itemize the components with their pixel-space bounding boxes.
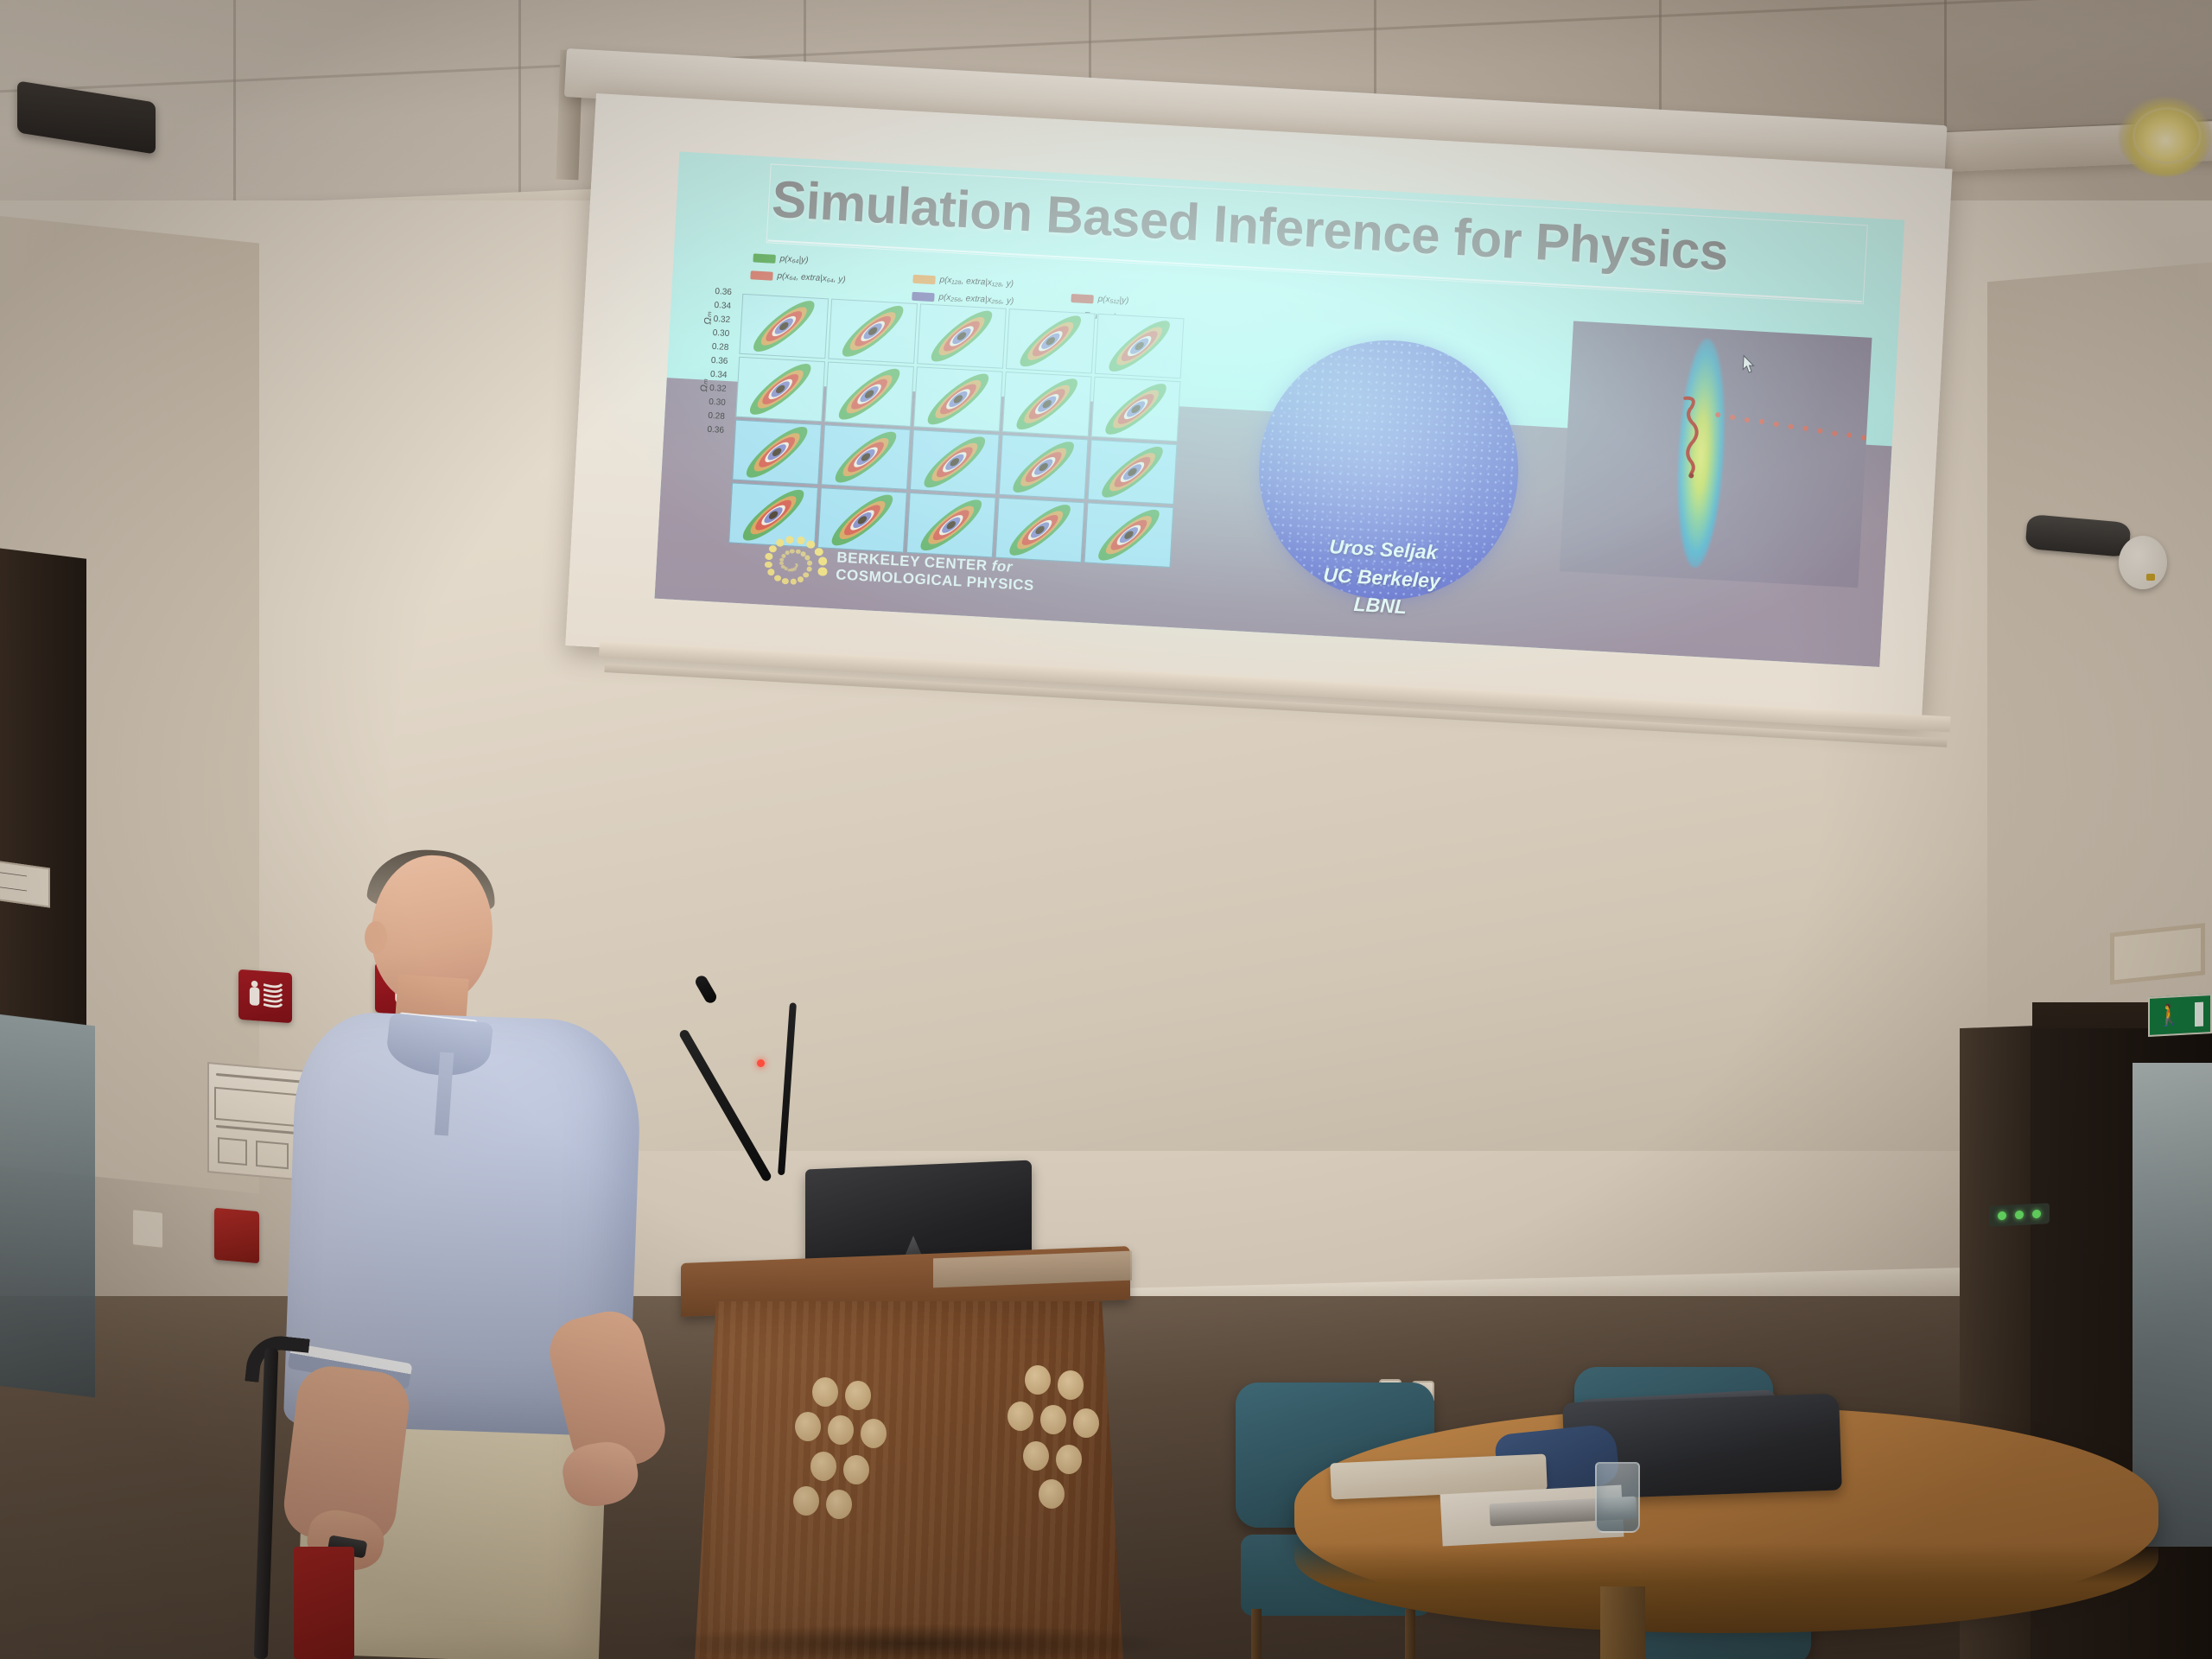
corner-plot-panel	[1084, 502, 1174, 567]
podium-inlay-dot	[795, 1412, 821, 1441]
mouse-cursor-icon	[1742, 355, 1757, 375]
ytick-r2-0: 0.36	[711, 356, 728, 366]
legend-label-1: p(x₆₄, extra|x₆₄, y)	[777, 271, 846, 284]
bccp-spiral-dot	[769, 545, 777, 552]
chair-leg	[1405, 1609, 1415, 1659]
bccp-spiral-dot	[782, 578, 789, 584]
bccp-spiral-dot	[798, 576, 804, 582]
ytick-r1-4: 0.28	[712, 342, 729, 353]
bccp-spiral-dot	[791, 569, 794, 572]
corner-plot-ylabel-row1: Ωₘ	[702, 311, 714, 325]
ytick-r2-2: 0.32	[709, 384, 727, 394]
podium-inlay-dot	[1023, 1441, 1049, 1471]
podium-inlay-dot	[845, 1381, 871, 1410]
podium-floor-shadow	[657, 1624, 1175, 1659]
bccp-line-1b: for	[991, 557, 1013, 575]
legend-swatch-0	[753, 253, 776, 263]
lecture-hall-scene: ——— ——— 🚶 Simulation Based Inference for…	[0, 0, 2212, 1659]
podium-inlay-left	[778, 1377, 881, 1567]
podium-inlay-dot	[843, 1455, 869, 1484]
fire-hose-icon	[245, 976, 285, 1015]
podium-inlay-dot	[1073, 1408, 1099, 1438]
ytick-r3-0: 0.36	[707, 425, 724, 435]
status-led-3	[2032, 1210, 2041, 1219]
presenter-person	[285, 847, 752, 1659]
podium-inlay-dot	[812, 1377, 838, 1407]
ytick-r1-0: 0.36	[715, 287, 732, 297]
corner-plot-panel-grid	[728, 294, 1187, 568]
podium-inlay-dot	[1025, 1365, 1051, 1395]
bccp-spiral-dot	[790, 549, 795, 553]
left-wall-placard: ——— ———	[0, 860, 50, 907]
podium-inlay-dot	[793, 1486, 819, 1516]
left-door-frame[interactable]	[0, 547, 86, 1026]
chair-leg	[1251, 1609, 1262, 1659]
bccp-spiral-dot	[806, 567, 812, 573]
light-switch[interactable]	[131, 1208, 164, 1249]
ytick-r2-1: 0.34	[710, 370, 728, 380]
lensing-squiggle-icon	[1675, 395, 1709, 481]
podium-inlay-dot	[810, 1452, 836, 1481]
bccp-spiral-dot	[797, 537, 805, 544]
bccp-spiral-dot	[818, 568, 828, 576]
slide-presenter-block: Uros Seljak UC Berkeley LBNL	[1220, 526, 1544, 628]
corner-plot-panel	[1091, 377, 1181, 442]
corner-plot-panel	[732, 420, 822, 485]
corner-plot-panel	[1006, 308, 1096, 373]
podium-inlay-dot	[861, 1419, 887, 1448]
bccp-spiral-dot	[776, 539, 784, 547]
corner-plot-panel	[910, 429, 1000, 494]
podium-inlay-right	[995, 1365, 1090, 1547]
fire-hose-sign	[238, 969, 292, 1023]
bccp-spiral-dot	[781, 565, 785, 569]
corner-plot-panel	[824, 361, 914, 426]
corner-plot-panel	[821, 424, 911, 489]
ytick-r1-1: 0.34	[714, 301, 731, 311]
bccp-spiral-dot	[795, 550, 800, 555]
podium-inlay-dot	[828, 1415, 854, 1445]
corner-plot-panel	[739, 294, 829, 359]
projected-slide: Simulation Based Inference for Physics p…	[654, 151, 1904, 666]
projection-screen[interactable]: Simulation Based Inference for Physics p…	[565, 93, 1952, 721]
bccp-spiral-dot	[765, 553, 772, 560]
ytick-r2-3: 0.30	[709, 397, 726, 408]
podium-inlay-dot	[1056, 1445, 1082, 1474]
corner-plot-panel	[828, 299, 918, 364]
status-led-2	[2015, 1211, 2024, 1220]
podium-inlay-dot	[1039, 1479, 1065, 1509]
bccp-spiral-dot	[806, 540, 815, 548]
ytick-r1-2: 0.32	[713, 315, 730, 325]
legend-swatch-1	[750, 270, 773, 280]
downlight-ring	[2133, 107, 2202, 164]
corner-plot-panel	[999, 435, 1089, 499]
bccp-spiral-dot	[807, 561, 813, 566]
legend-swatch-4	[1071, 294, 1094, 303]
presenter-ear	[365, 921, 387, 954]
legend-swatch-3	[912, 291, 935, 301]
podium-inlay-dot	[826, 1490, 852, 1519]
bccp-spiral-dot	[774, 575, 781, 582]
emergency-exit-sign: 🚶	[2148, 994, 2212, 1037]
corner-plot-panel	[735, 357, 825, 422]
corner-plot-panel	[1088, 440, 1178, 505]
legend-label-0: p(x₆₄|y)	[779, 254, 808, 265]
lensing-density-panel	[1560, 321, 1872, 588]
bccp-spiral-dot	[818, 557, 828, 566]
podium-inlay-dot	[1040, 1405, 1066, 1434]
bccp-spiral-dot	[814, 548, 823, 556]
corner-plot-panel	[1002, 372, 1092, 436]
bccp-spiral-dot	[803, 572, 809, 578]
bccp-spiral-dot	[790, 578, 797, 584]
bccp-spiral-dot	[786, 536, 795, 543]
corner-plot-panel	[913, 366, 1003, 431]
av-status-panel[interactable]	[1989, 1203, 2050, 1227]
bccp-spiral-dot	[804, 556, 810, 561]
bccp-logo-text: BERKELEY CENTER for COSMOLOGICAL PHYSICS	[836, 549, 1036, 594]
left-door-glass[interactable]	[0, 1014, 95, 1398]
status-led-1	[1998, 1211, 2006, 1221]
legend-label-2: p(x₁₂₈, extra|x₁₂₈, y)	[939, 276, 1014, 289]
running-person-icon: 🚶	[2157, 1005, 2183, 1027]
bccp-spiral-dot	[768, 569, 775, 575]
ytick-r1-3: 0.30	[712, 328, 729, 339]
corner-plot-ylabel-row2: Ωₘ	[698, 378, 710, 392]
bccp-spiral-icon	[757, 535, 827, 592]
bccp-spiral-dot	[779, 557, 784, 562]
corner-plot-panel	[1095, 314, 1185, 378]
fire-alarm-call-point[interactable]	[214, 1208, 259, 1264]
podium-inlay-dot	[1007, 1402, 1033, 1431]
right-door-glass[interactable]	[2133, 1063, 2212, 1547]
lensing-dotted-track	[1714, 412, 1862, 441]
microphone-led-indicator	[757, 1059, 765, 1067]
legend-swatch-2	[912, 274, 936, 283]
exit-door-bar-icon	[2195, 1002, 2203, 1027]
podium-inlay-dot	[1058, 1370, 1084, 1400]
legend-label-4: p(x₅₁₂|y)	[1097, 295, 1128, 306]
corner-plot-panel	[917, 303, 1007, 368]
smoke-detector-icon	[2119, 536, 2167, 589]
bccp-spiral-dot	[765, 561, 772, 568]
wall-frame-right	[2110, 923, 2205, 985]
ytick-r2-4: 0.28	[708, 411, 725, 422]
water-glass	[1595, 1462, 1640, 1533]
table-leg	[1600, 1586, 1645, 1659]
red-equipment-box	[294, 1547, 354, 1659]
legend-label-3: p(x₂₅₆, extra|x₂₅₆, y)	[938, 293, 1014, 307]
